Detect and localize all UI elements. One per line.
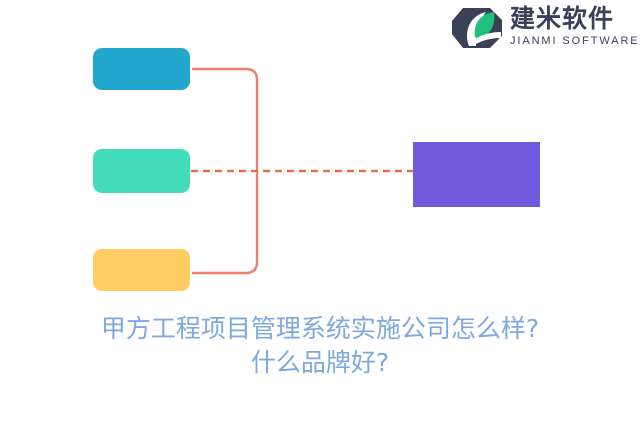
page-title-line-1: 甲方工程项目管理系统实施公司怎么样? (0, 312, 640, 346)
diagram-node-green (93, 149, 190, 193)
diagram-node-purple (413, 142, 540, 207)
page-title-line-2: 什么品牌好? (0, 346, 640, 380)
flow-diagram (0, 0, 640, 310)
page-title: 甲方工程项目管理系统实施公司怎么样? 什么品牌好? (0, 312, 640, 380)
diagram-node-blue (93, 48, 190, 90)
connector-bracket-path (193, 69, 257, 273)
page-canvas: 建米软件 JIANMI SOFTWARE 甲方工程项目管理系统实施公司怎么样? … (0, 0, 640, 427)
diagram-node-yellow (93, 249, 190, 291)
